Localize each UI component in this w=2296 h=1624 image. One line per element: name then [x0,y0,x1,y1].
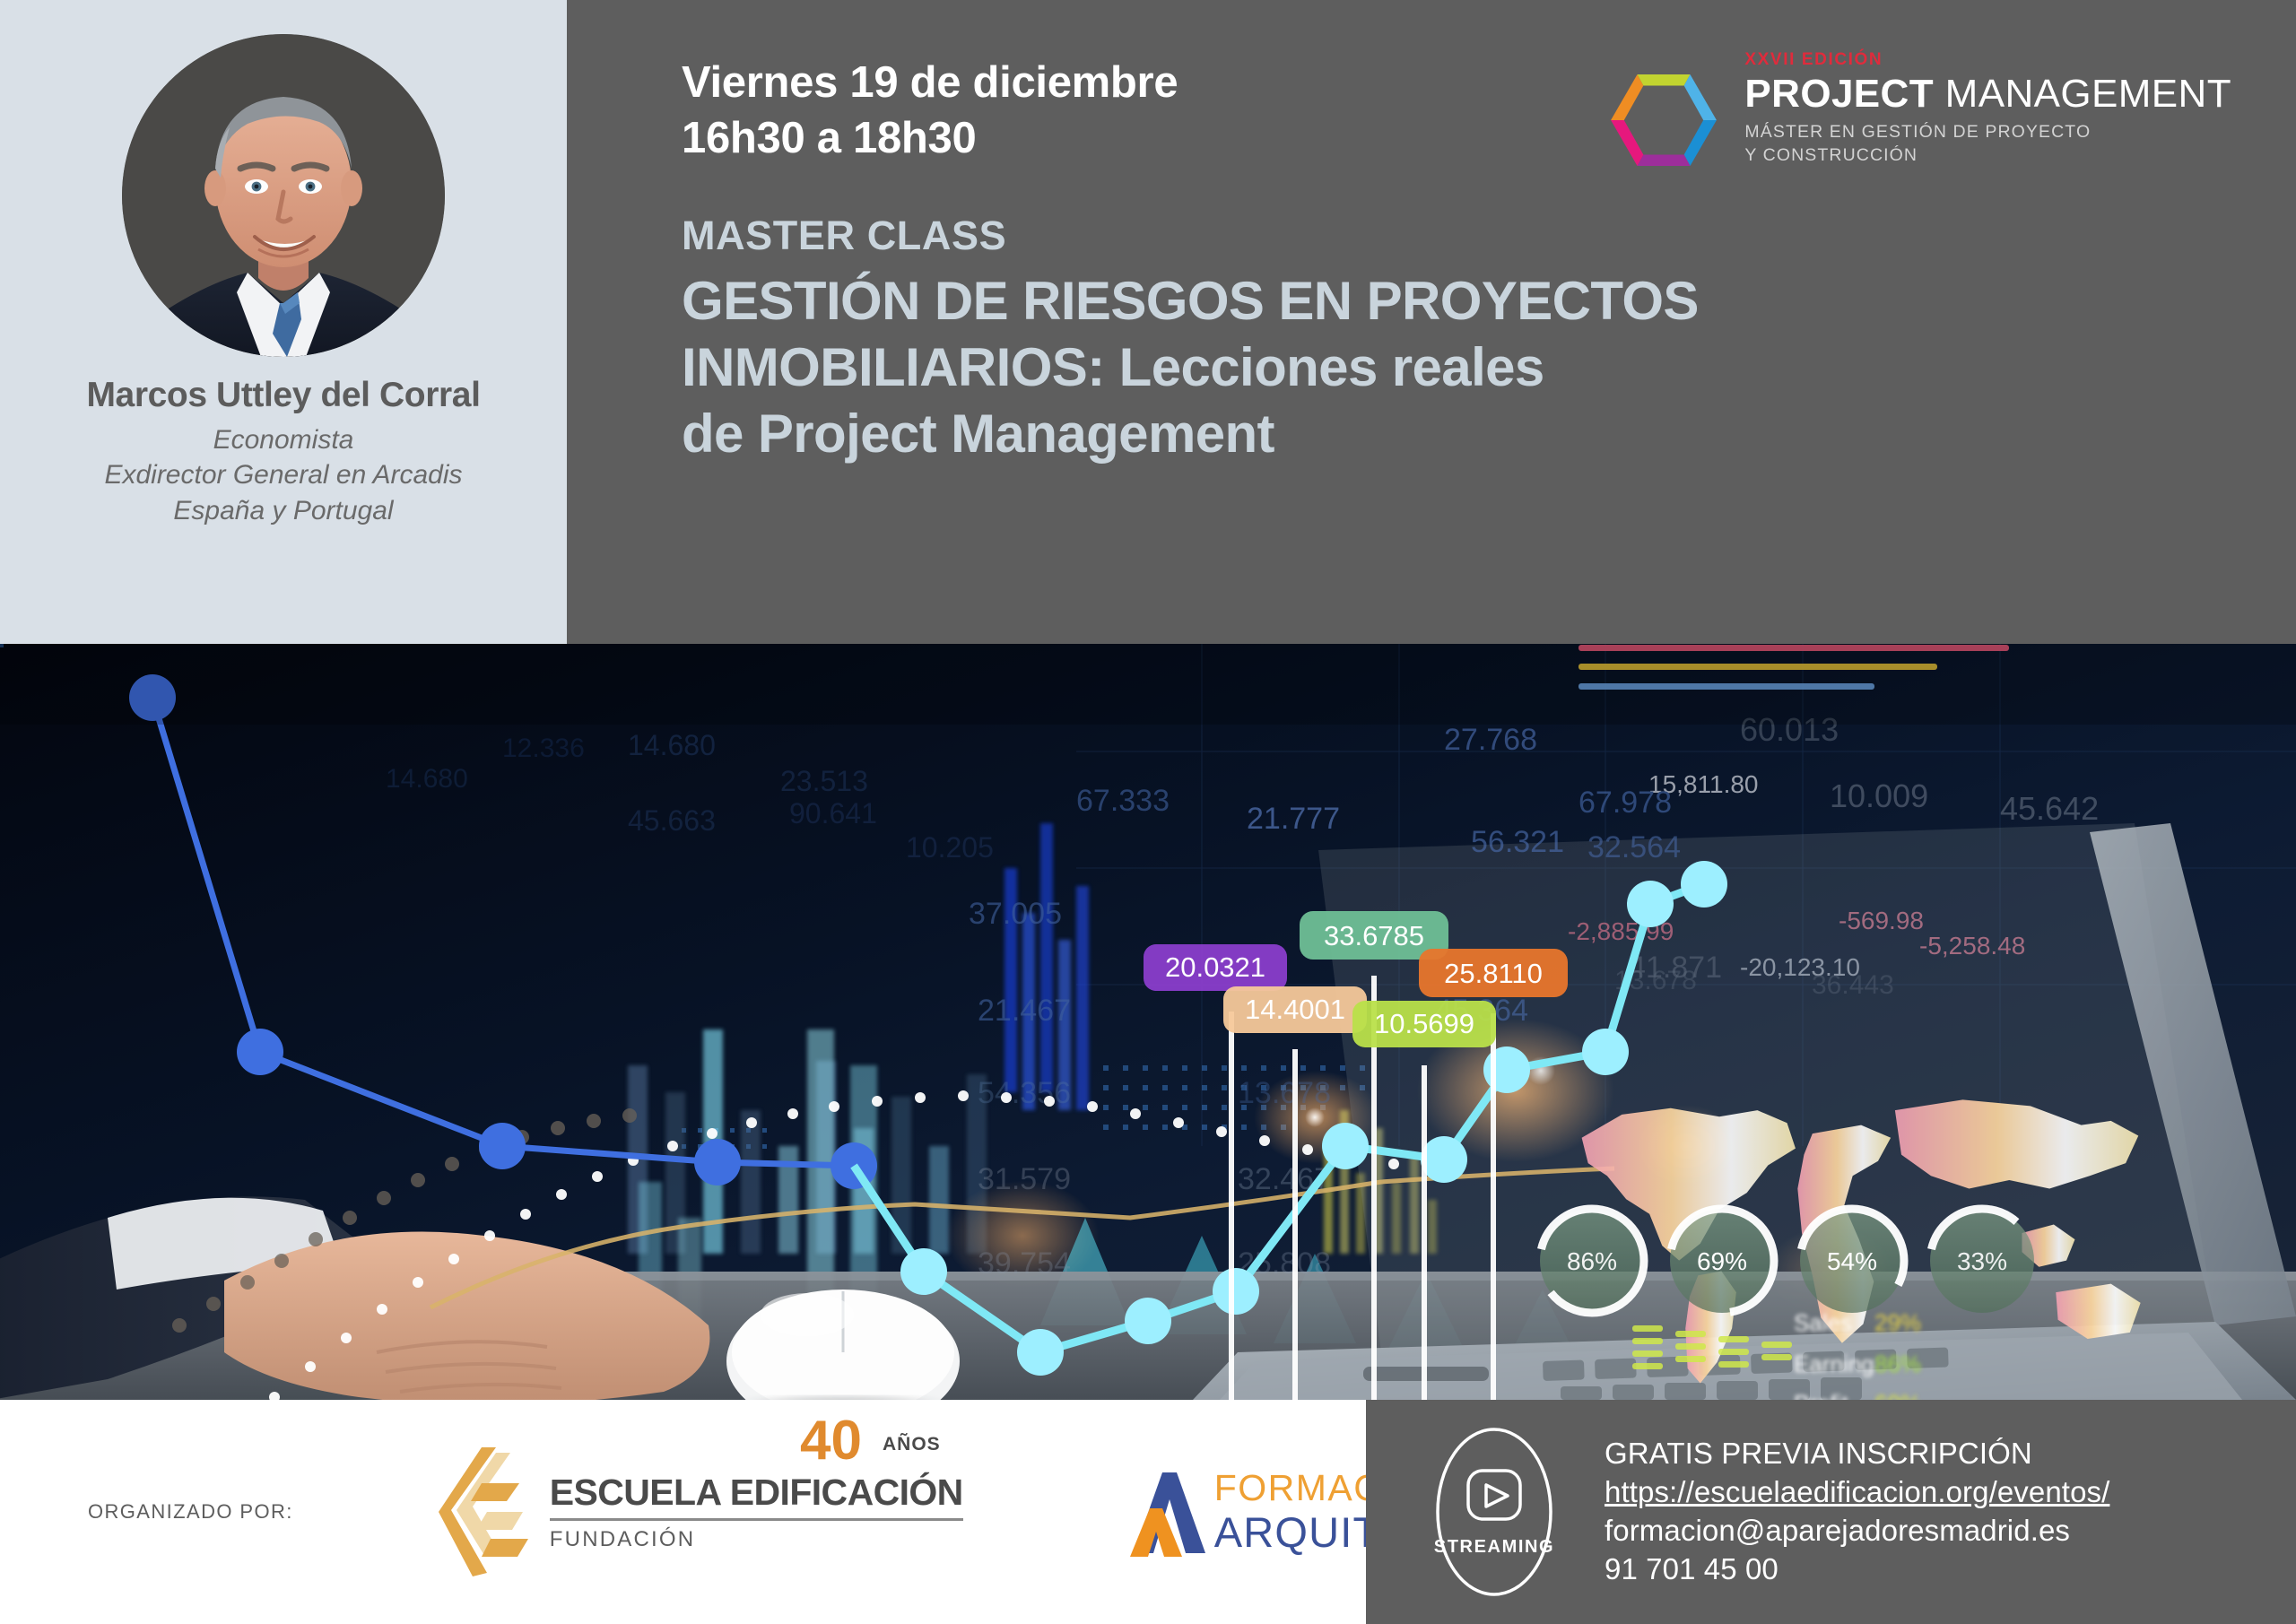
event-poster: Marcos Uttley del Corral Economista Exdi… [0,0,2296,1624]
svg-text:Earning: Earning [1794,1350,1874,1377]
headline-panel: Viernes 19 de diciembre 16h30 a 18h30 MA… [567,0,2296,644]
organized-by-label: ORGANIZADO POR: [88,1500,293,1524]
pm-edition-label: XXVII EDICIÓN [1744,50,2231,70]
svg-text:54%: 54% [1827,1247,1877,1275]
pm-name: PROJECT MANAGEMENT [1744,74,2231,115]
streaming-label: STREAMING [1434,1537,1554,1558]
svg-text:10.5699: 10.5699 [1374,1008,1474,1039]
svg-text:23.513: 23.513 [780,765,868,797]
escuela-name: ESCUELA EDIFICACIÓN [550,1472,963,1514]
footer-organizers: ORGANIZADO POR: 40 AÑOS [0,1400,1366,1624]
svg-text:36.443: 36.443 [1812,970,1894,1000]
svg-text:20.0321: 20.0321 [1165,951,1265,983]
svg-text:86%: 86% [1874,1350,1921,1377]
svg-text:AÑOS: AÑOS [883,1434,941,1455]
speaker-role: Economista Exdirector General en Arcadis… [104,422,462,529]
event-title-line-1: GESTIÓN DE RIESGOS EN PROYECTOS [682,268,2027,334]
svg-text:56.321: 56.321 [1471,825,1564,859]
svg-text:29%: 29% [1874,1309,1921,1336]
escuela-divider [550,1518,963,1521]
svg-text:69%: 69% [1697,1247,1747,1275]
registration-phone[interactable]: 91 701 45 00 [1605,1550,2109,1589]
registration-url[interactable]: https://escuelaedificacion.org/eventos/ [1605,1473,2109,1512]
svg-text:45.663: 45.663 [628,804,716,837]
footer: ORGANIZADO POR: 40 AÑOS [0,1400,2296,1624]
registration-email[interactable]: formacion@aparejadoresmadrid.es [1605,1512,2109,1550]
svg-text:-569.98: -569.98 [1839,907,1924,934]
svg-text:33.6785: 33.6785 [1324,920,1424,951]
svg-text:33%: 33% [1957,1247,2007,1275]
svg-text:13.678: 13.678 [1238,1076,1331,1110]
svg-text:39.754: 39.754 [978,1246,1071,1281]
svg-text:14.4001: 14.4001 [1245,994,1345,1025]
svg-text:27.768: 27.768 [1444,723,1537,757]
formacion-a-mark-icon [1123,1467,1205,1557]
registration-details: GRATIS PREVIA INSCRIPCIÓN https://escuel… [1605,1435,2109,1589]
svg-text:32.564: 32.564 [1587,830,1681,864]
pm-logo-text: XXVII EDICIÓN PROJECT MANAGEMENT MÁSTER … [1744,47,2231,167]
svg-text:86%: 86% [1567,1247,1617,1275]
svg-text:25.8110: 25.8110 [1444,958,1543,989]
svg-text:31.579: 31.579 [978,1162,1071,1196]
speaker-name: Marcos Uttley del Corral [86,377,480,415]
hexagon-ring-icon [1603,59,1725,181]
escuela-wordmark: 40 AÑOS ESCUELA EDIFICACIÓN FUNDACIÓN [550,1472,963,1552]
speaker-avatar [122,34,445,357]
pm-subtitle-line-1: MÁSTER EN GESTIÓN DE PROYECTO [1744,120,2231,143]
svg-text:10.009: 10.009 [1830,777,1928,814]
event-title: GESTIÓN DE RIESGOS EN PROYECTOS INMOBILI… [682,268,2027,466]
speaker-role-line-2: Exdirector General en Arcadis [104,457,462,493]
anniversary-40-anos-icon: 40 AÑOS [800,1411,958,1470]
event-kicker: MASTER CLASS [682,213,2296,259]
svg-text:21.467: 21.467 [978,994,1071,1028]
svg-text:12.336: 12.336 [502,734,585,763]
svg-text:14.680: 14.680 [628,729,716,761]
svg-text:54.356: 54.356 [978,1076,1071,1110]
escuela-edificacion-logo: 40 AÑOS ESCUELA EDIFICACIÓN FUNDACIÓN [437,1440,963,1584]
hero-image: 21.777 56.321 27.768 67.333 15,811.80 10… [0,644,2296,1400]
pm-name-bold: PROJECT [1744,72,1934,116]
speaker-role-line-3: España y Portugal [104,493,462,529]
svg-text:40: 40 [800,1411,862,1470]
escuela-subtitle: FUNDACIÓN [550,1527,963,1552]
svg-text:67.978: 67.978 [1578,786,1672,820]
svg-text:37.005: 37.005 [969,897,1062,931]
event-title-line-2: INMOBILIARIOS: Lecciones reales [682,334,2027,401]
escuela-mark-icon [437,1440,537,1584]
event-title-line-3: de Project Management [682,401,2027,467]
top-band: Marcos Uttley del Corral Economista Exdi… [0,0,2296,644]
svg-text:Sales: Sales [1794,1309,1852,1336]
svg-text:21.777: 21.777 [1247,802,1340,836]
streaming-icon [1427,1424,1561,1600]
svg-text:90.641: 90.641 [789,797,877,829]
svg-text:Profit: Profit [1794,1390,1848,1400]
project-management-logo: XXVII EDICIÓN PROJECT MANAGEMENT MÁSTER … [1603,47,2231,181]
svg-text:10.205: 10.205 [906,831,994,864]
svg-text:67.333: 67.333 [1076,784,1170,818]
streaming-badge: STREAMING [1427,1424,1561,1600]
pm-name-light: MANAGEMENT [1934,72,2231,116]
svg-text:60%: 60% [1874,1390,1921,1400]
registration-free-text: GRATIS PREVIA INSCRIPCIÓN [1605,1435,2109,1473]
svg-text:45.642: 45.642 [2000,790,2099,827]
speaker-panel: Marcos Uttley del Corral Economista Exdi… [0,0,567,644]
svg-text:-5,258.48: -5,258.48 [1919,932,2025,960]
speaker-role-line-1: Economista [104,422,462,458]
pm-subtitle-line-2: Y CONSTRUCCIÓN [1744,143,2231,167]
footer-registration: STREAMING GRATIS PREVIA INSCRIPCIÓN http… [1366,1400,2296,1624]
pm-subtitle: MÁSTER EN GESTIÓN DE PROYECTO Y CONSTRUC… [1744,120,2231,167]
svg-text:14.680: 14.680 [386,764,468,794]
